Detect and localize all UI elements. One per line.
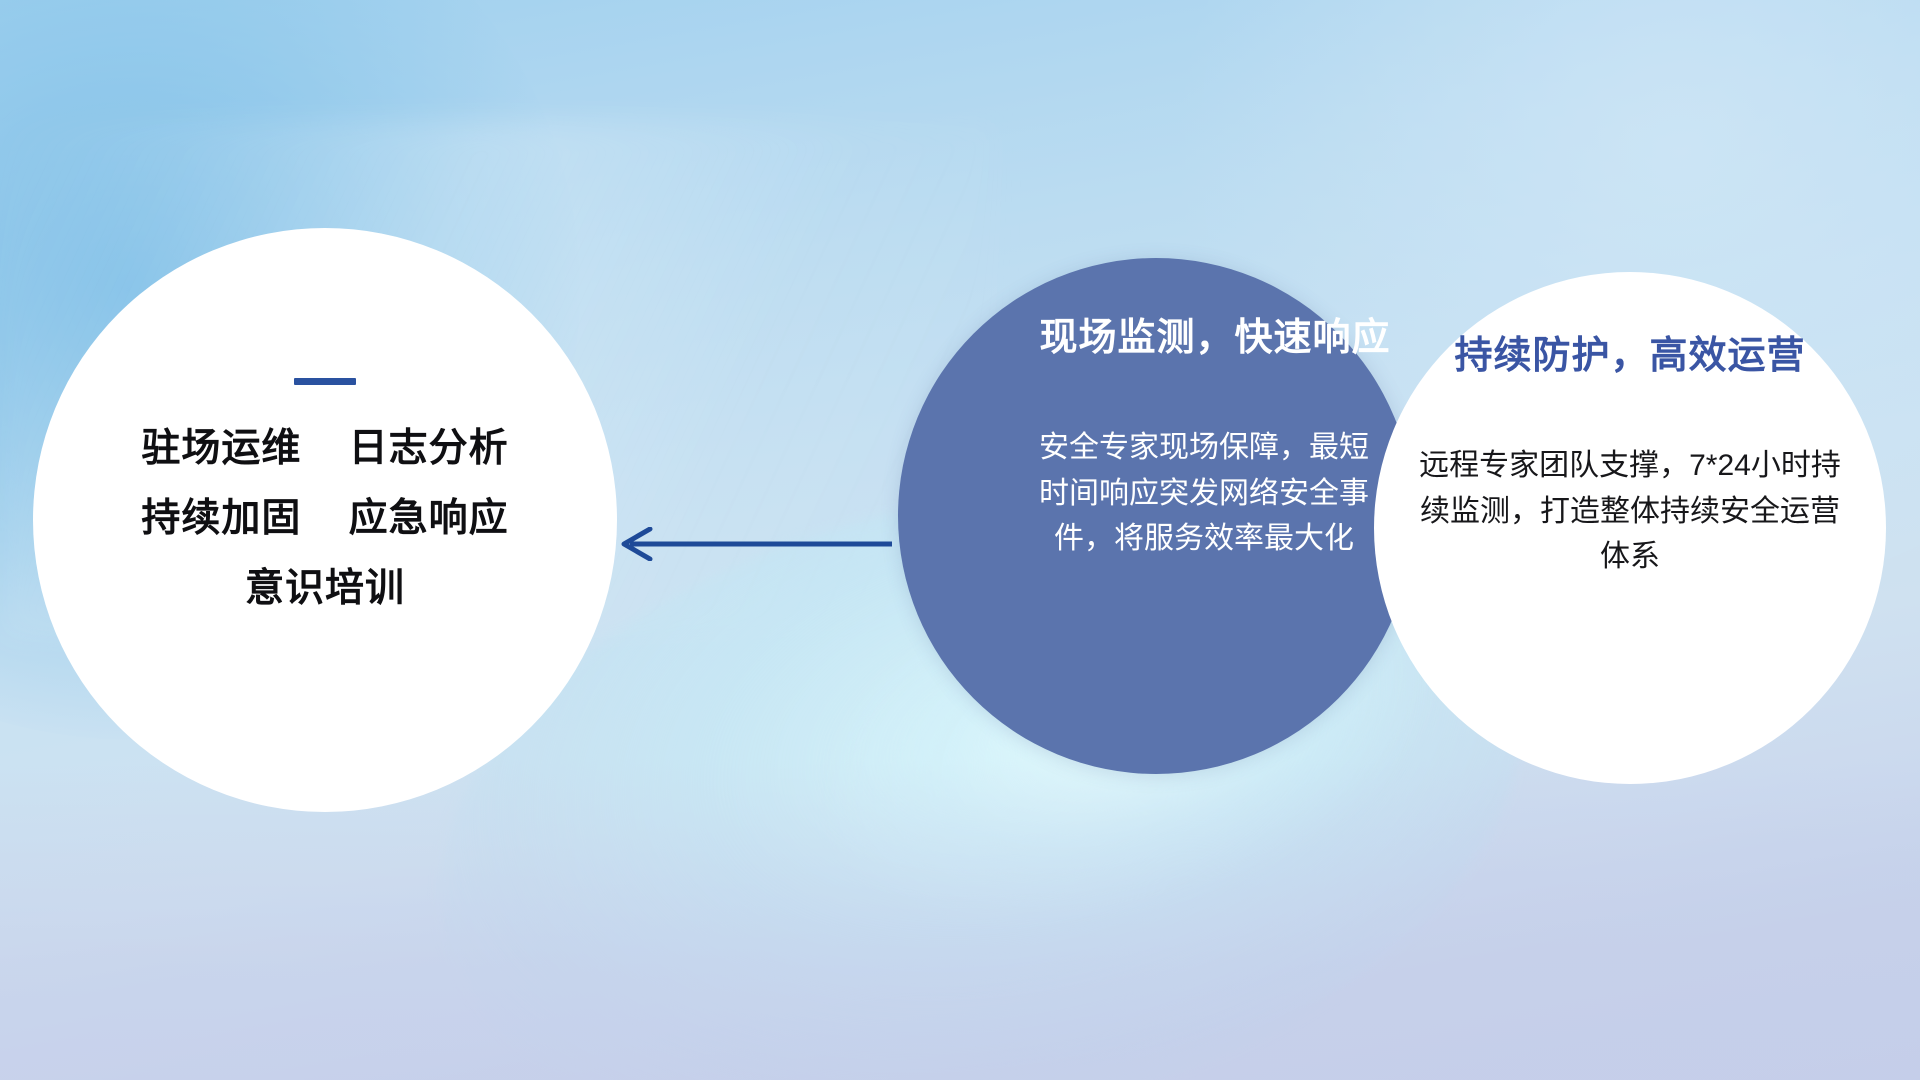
left-keyword-row: 驻场运维 日志分析 — [141, 429, 508, 470]
slide-canvas: 现场监测，快速响应 安全专家现场保障，最短时间响应突发网络安全事件，将服务效率最… — [0, 0, 1920, 1080]
left-circle-card: 驻场运维 日志分析 持续加固 应急响应 意识培训 — [33, 228, 617, 812]
mid-circle-title: 现场监测，快速响应 — [1039, 306, 1390, 361]
left-keyword-row: 持续加固 应急响应 — [141, 499, 508, 540]
left-keyword-row: 意识培训 — [245, 569, 405, 610]
right-circle-card: 持续防护，高效运营 远程专家团队支撑，7*24小时持续监测，打造整体持续安全运营… — [1374, 272, 1886, 784]
mid-circle-body: 安全专家现场保障，最短时间响应突发网络安全事件，将服务效率最大化 — [1039, 425, 1369, 562]
right-circle-body: 远程专家团队支撑，7*24小时持续监测，打造整体持续安全运营体系 — [1415, 443, 1845, 580]
right-circle-title: 持续防护，高效运营 — [1454, 324, 1805, 379]
divider-dash-icon — [294, 378, 356, 385]
mid-circle-card: 现场监测，快速响应 安全专家现场保障，最短时间响应突发网络安全事件，将服务效率最… — [898, 258, 1414, 774]
arrow-left-icon — [604, 527, 894, 561]
left-keyword-list: 驻场运维 日志分析 持续加固 应急响应 意识培训 — [141, 429, 508, 610]
